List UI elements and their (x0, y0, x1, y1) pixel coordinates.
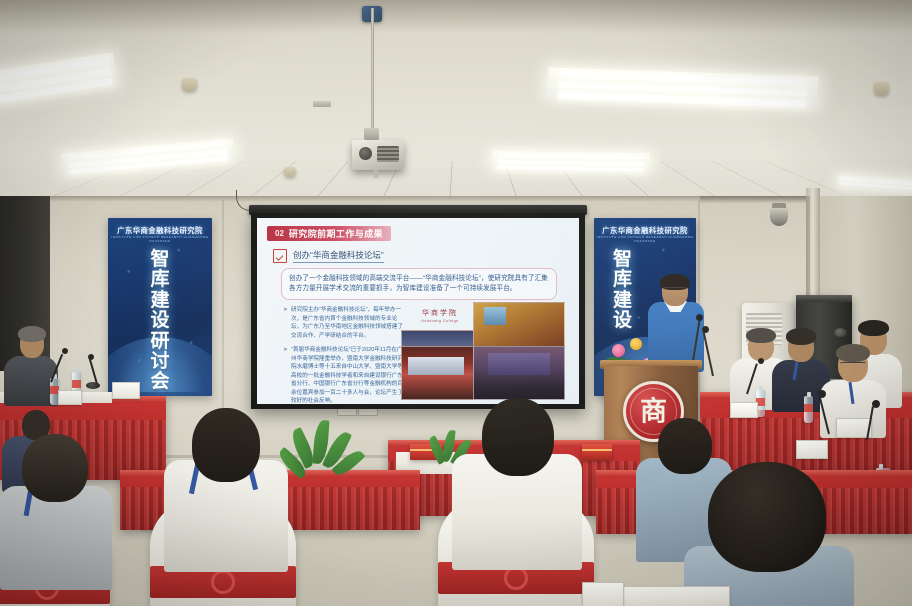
foreground-attendee-4 (684, 462, 854, 606)
attendee-hair (18, 326, 46, 342)
projector-collar (364, 128, 379, 140)
checkmark-icon (273, 249, 287, 263)
banner-char: 讨 (150, 352, 169, 371)
banner-char: 设 (613, 311, 632, 330)
name-card (796, 440, 828, 459)
podium-microphone-head (702, 326, 709, 333)
slide-section-title: 研究院前期工作与成果 (289, 227, 383, 240)
ceiling-light-panel (548, 67, 819, 106)
slide-subtitle: 创办“华商金融科技论坛” (293, 249, 384, 263)
attendee-head-back (192, 408, 260, 482)
ceiling-shadow-band (0, 0, 912, 34)
slide-bullet-text: 研究院主办“华商金融科技论坛”，每年举办一次，是广东省内首个金融科技领域的专业论… (291, 306, 403, 340)
foreground-attendee-1 (164, 408, 288, 568)
bullet-marker-icon: ➤ (283, 306, 288, 340)
attendee-hair (836, 344, 870, 362)
ceiling-light-panel (492, 151, 650, 171)
bullet-marker-icon: ➤ (283, 346, 288, 404)
ceiling-vent (313, 101, 331, 107)
banner-char: 建 (613, 291, 632, 310)
presentation-slide: 02 研究院前期工作与成果 创办“华商金融科技论坛” 创办了一个金融科技领域的高… (257, 218, 579, 404)
attendee-hair (786, 328, 816, 345)
potted-plant-left (286, 420, 358, 490)
name-card (730, 402, 758, 418)
attendee-hair (858, 320, 889, 336)
attendee-head-back (482, 398, 554, 476)
table-microphone-head (818, 390, 826, 398)
flower-bloom (612, 344, 625, 357)
banner-char: 智 (150, 250, 169, 269)
banner-char: 库 (150, 270, 169, 289)
gift-box (582, 444, 612, 460)
smoke-detector (182, 78, 197, 91)
dome-security-camera (770, 203, 788, 226)
attendee-head-back (708, 462, 826, 572)
slide-photo-logo-cn: 华商学院 (422, 308, 458, 318)
smoke-detector (284, 167, 296, 177)
projector-foot (374, 170, 378, 178)
table-microphone-head (758, 358, 764, 364)
banner-org-name-en: INSTITUTE FOR FINTECH RESEARCH GUANGDONG… (108, 235, 212, 243)
flower-bloom (630, 338, 642, 350)
slide-bullet-list: ➤ 研究院主办“华商金融科技论坛”，每年举办一次，是广东省内首个金融科技领域的专… (283, 306, 403, 404)
slide-photo-logo-en: Huashang College (421, 319, 459, 323)
banner-vertical-title: 智 库 建 设 (613, 250, 632, 331)
loudspeaker-top (796, 295, 852, 302)
conference-room-photo: 广东华商金融科技研究院 INSTITUTE FOR FINTECH RESEAR… (0, 0, 912, 606)
banner-char: 智 (613, 250, 632, 269)
foreground-attendee-5 (0, 434, 112, 580)
suspended-grid-ceiling (0, 0, 912, 205)
banner-char: 库 (613, 270, 632, 289)
slide-section-number: 02 (275, 229, 284, 238)
slide-bullet-item: ➤ “首届华商金融科技论坛”已于2020年11月在广州华商学院隆重举办，暨南大学… (283, 346, 403, 404)
banner-left: 广东华商金融科技研究院 INSTITUTE FOR FINTECH RESEAR… (108, 218, 212, 396)
slide-photo-stage (401, 346, 479, 400)
podium-microphone-head (696, 314, 703, 321)
table-microphone-head (872, 400, 880, 408)
slide-subtitle-row: 创办“华商金融科技论坛” (273, 249, 384, 263)
slide-photo-logo: 华商学院 Huashang College (409, 304, 471, 326)
banner-char: 设 (150, 311, 169, 330)
glasses-icon (840, 362, 866, 368)
banner-char: 会 (150, 372, 169, 391)
banner-char: 研 (150, 332, 169, 351)
table-microphone-head (62, 348, 68, 354)
slide-bullet-text: “首届华商金融科技论坛”已于2020年11月在广州华商学院隆重举办，暨南大学金融… (291, 346, 403, 404)
banner-vertical-title: 智 库 建 设 研 讨 会 (150, 250, 169, 392)
slide-section-header: 02 研究院前期工作与成果 (267, 226, 391, 241)
projector-vent (377, 146, 399, 162)
name-card (582, 582, 624, 606)
camera-dome-icon (770, 208, 788, 226)
banner-char: 建 (150, 291, 169, 310)
glasses-icon (664, 287, 686, 293)
projector-lens-icon (359, 147, 372, 160)
slide-photo-auditorium (473, 346, 565, 400)
foreground-attendee-2 (452, 398, 582, 566)
smoke-detector (874, 82, 889, 95)
name-card (112, 382, 140, 399)
attendee-head-back (22, 434, 88, 502)
microphone-base (86, 382, 100, 389)
slide-bullet-item: ➤ 研究院主办“华商金融科技论坛”，每年举办一次，是广东省内首个金融科技领域的专… (283, 306, 403, 340)
slide-callout-box: 创办了一个金融科技领域的高端交流平台——“华商金融科技论坛”，使研究院具有了汇集… (281, 268, 557, 300)
slide-callout-text: 创办了一个金融科技领域的高端交流平台——“华商金融科技论坛”，使研究院具有了汇集… (289, 274, 549, 294)
banner-org-name-en: INSTITUTE FOR FINTECH RESEARCH GUANGDONG… (594, 235, 696, 243)
projector-drop-rod (371, 8, 374, 136)
ceiling-light-panel (0, 52, 118, 104)
presenter-at-podium (648, 276, 704, 371)
name-card (618, 586, 730, 606)
water-bottle (804, 396, 813, 423)
table-microphone-head (88, 354, 94, 360)
ceiling-projector (352, 140, 404, 170)
name-card (58, 390, 82, 405)
